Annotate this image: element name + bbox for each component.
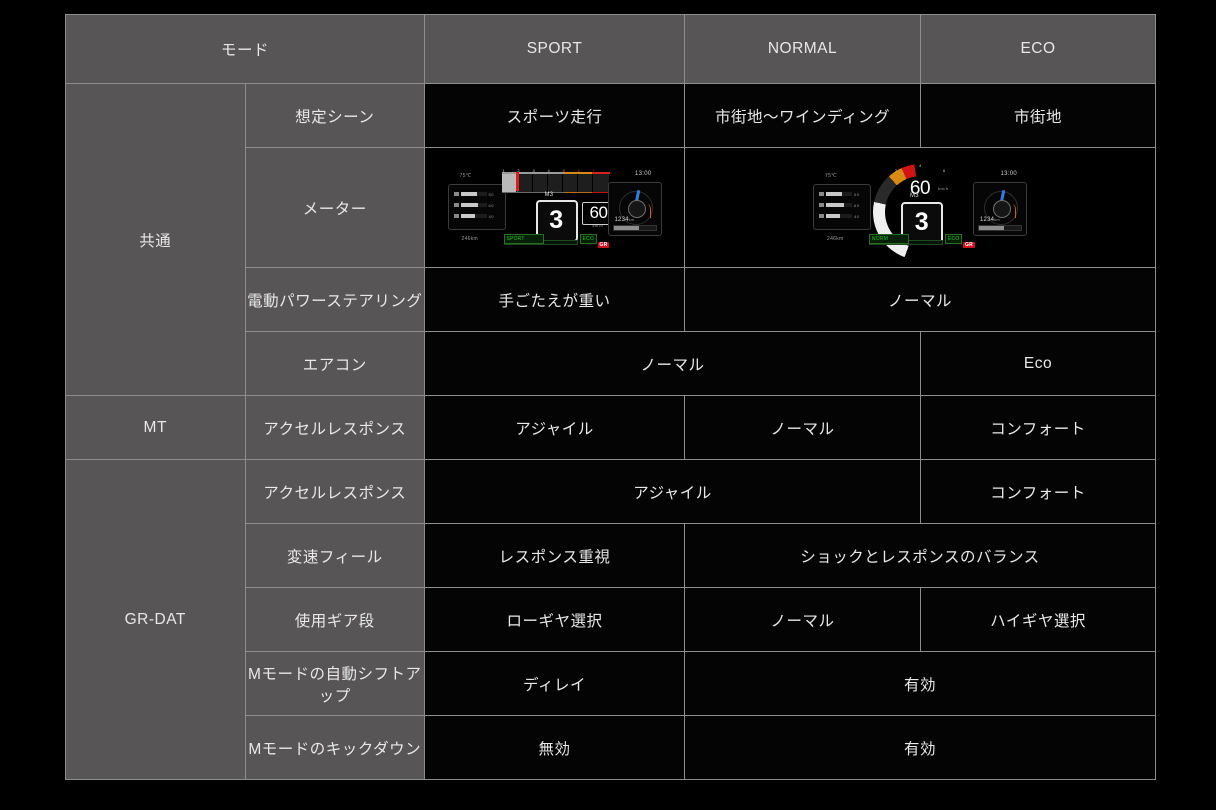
- bar-track: [461, 192, 487, 196]
- gr-badge: GR: [598, 242, 610, 248]
- tach-tick: 4: [548, 168, 551, 173]
- screenshot-root: モード SPORT NORMAL ECO 共通 想定シーン スポーツ走行 市街地…: [0, 0, 1216, 810]
- meter-bar-row: 50: [454, 192, 500, 197]
- tachometer-bar: 1 2 3 4 5 6 7: [502, 169, 610, 193]
- meter-nav-panel: 1234km: [973, 182, 1027, 236]
- cell-gear-normal: ノーマル: [685, 588, 921, 652]
- item-kickdown: Mモードのキックダウン: [245, 716, 425, 780]
- cell-eps-normal-eco: ノーマル: [685, 268, 1156, 332]
- gauge-icon: [819, 203, 824, 207]
- tach-tick: 6: [578, 168, 581, 173]
- trip-progress-bar: [978, 225, 1022, 231]
- road-path: [642, 204, 651, 218]
- meter-nav-panel: 1234km: [608, 182, 662, 236]
- meter-bar-row: 40: [454, 214, 500, 219]
- item-eps: 電動パワーステアリング: [245, 268, 425, 332]
- meter-odometer: 246km: [462, 236, 479, 242]
- meter-coolant-temp: 75℃: [825, 173, 837, 179]
- item-shiftfeel: 変速フィール: [245, 524, 425, 588]
- meter-left-panel: 50 60 40: [813, 184, 871, 230]
- meter-display-sport: 75℃ 246km 13:00 50: [446, 160, 664, 256]
- gauge-icon: [454, 192, 459, 196]
- cell-accel-mt-eco: コンフォート: [921, 396, 1156, 460]
- meter-bar-row: 60: [819, 203, 865, 208]
- meter-clock: 13:00: [1000, 171, 1017, 177]
- bar-value: 60: [489, 203, 500, 208]
- speed-unit: km/h: [593, 223, 604, 228]
- bar-track: [461, 214, 487, 218]
- tach-tick: 5: [563, 168, 566, 173]
- table-header-row: モード SPORT NORMAL ECO: [66, 15, 1156, 84]
- trip-value: 1234: [615, 217, 629, 223]
- category-grdat: GR-DAT: [66, 460, 246, 780]
- header-col-normal: NORMAL: [685, 15, 921, 84]
- header-col-sport: SPORT: [425, 15, 685, 84]
- cell-accel-mt-normal: ノーマル: [685, 396, 921, 460]
- cell-shiftfeel-sport: レスポンス重視: [425, 524, 685, 588]
- header-col-eco: ECO: [921, 15, 1156, 84]
- gauge-icon: [454, 203, 459, 207]
- cell-kickdown-sport: 無効: [425, 716, 685, 780]
- meter-bar-row: 60: [454, 203, 500, 208]
- cell-scene-sport: スポーツ走行: [425, 84, 685, 148]
- meter-left-panel: 50 60 40: [448, 184, 506, 230]
- bar-value: 40: [489, 214, 500, 219]
- tach-tick: 1: [503, 168, 506, 173]
- cell-shiftfeel-normal-eco: ショックとレスポンスのバランス: [685, 524, 1156, 588]
- meter-clock: 13:00: [635, 171, 652, 177]
- trip-progress-bar: [613, 225, 657, 231]
- tach-tick: 3: [533, 168, 536, 173]
- cell-aircon-sport-normal: ノーマル: [425, 332, 921, 396]
- tach-tick: 7: [593, 168, 596, 173]
- gauge-icon: [454, 214, 459, 218]
- category-common: 共通: [66, 84, 246, 396]
- cell-gear-eco: ハイギヤ選択: [921, 588, 1156, 652]
- category-mt: MT: [66, 396, 246, 460]
- gr-badge: GR: [963, 242, 975, 248]
- cell-eps-sport: 手ごたえが重い: [425, 268, 685, 332]
- cell-accel-mt-sport: アジャイル: [425, 396, 685, 460]
- item-meter: メーター: [245, 148, 425, 268]
- bar-value: 40: [854, 214, 865, 219]
- speed-unit: km/h: [938, 186, 949, 191]
- header-mode-label: モード: [66, 15, 425, 84]
- drive-mode-spec-table: モード SPORT NORMAL ECO 共通 想定シーン スポーツ走行 市街地…: [65, 14, 1156, 780]
- trip-unit: km: [994, 217, 1000, 222]
- cell-autoshiftup-normal-eco: 有効: [685, 652, 1156, 716]
- trip-value: 1234: [980, 217, 994, 223]
- item-accel-dat: アクセルレスポンス: [245, 460, 425, 524]
- cell-aircon-eco: Eco: [921, 332, 1156, 396]
- meter-odometer: 246km: [827, 236, 844, 242]
- table-row: 共通 想定シーン スポーツ走行 市街地〜ワインディング 市街地: [66, 84, 1156, 148]
- cell-autoshiftup-sport: ディレイ: [425, 652, 685, 716]
- item-gear: 使用ギア段: [245, 588, 425, 652]
- gear-mode-label: M3: [910, 193, 919, 199]
- eco-tag: ECO: [945, 234, 962, 244]
- trip-readout: 1234km: [980, 217, 1000, 223]
- cell-accel-dat-eco: コンフォート: [921, 460, 1156, 524]
- cell-scene-normal: 市街地〜ワインディング: [685, 84, 921, 148]
- cell-kickdown-normal-eco: 有効: [685, 716, 1156, 780]
- bar-track: [826, 214, 852, 218]
- trip-unit: km: [629, 217, 635, 222]
- drive-mode-tag: NORM: [869, 234, 909, 244]
- item-autoshiftup: Mモードの自動シフトアップ: [245, 652, 425, 716]
- gauge-icon: [819, 192, 824, 196]
- item-aircon: エアコン: [245, 332, 425, 396]
- meter-bar-row: 40: [819, 214, 865, 219]
- meter-bar-row: 50: [819, 192, 865, 197]
- table-row: GR-DAT アクセルレスポンス アジャイル コンフォート: [66, 460, 1156, 524]
- meter-coolant-temp: 75℃: [460, 173, 472, 179]
- bar-track: [826, 203, 852, 207]
- cell-gear-sport: ローギヤ選択: [425, 588, 685, 652]
- bar-value: 50: [854, 192, 865, 197]
- drive-mode-tag: SPORT: [504, 234, 544, 244]
- item-accel-mt: アクセルレスポンス: [245, 396, 425, 460]
- cell-accel-dat-sport-normal: アジャイル: [425, 460, 921, 524]
- cell-meter-sport: 75℃ 246km 13:00 50: [425, 148, 685, 268]
- trip-readout: 1234km: [615, 217, 635, 223]
- bar-value: 60: [854, 203, 865, 208]
- table-row: MT アクセルレスポンス アジャイル ノーマル コンフォート: [66, 396, 1156, 460]
- meter-display-normal: 75℃ 246km 13:00 50: [811, 160, 1029, 256]
- gear-mode-label: M3: [545, 192, 554, 198]
- speed-readout: 60: [903, 178, 937, 200]
- gauge-icon: [819, 214, 824, 218]
- cell-scene-eco: 市街地: [921, 84, 1156, 148]
- cell-meter-normal: 75℃ 246km 13:00 50: [685, 148, 1156, 268]
- eco-tag: ECO: [580, 234, 597, 244]
- bar-value: 50: [489, 192, 500, 197]
- bar-track: [461, 203, 487, 207]
- bar-track: [826, 192, 852, 196]
- item-scene: 想定シーン: [245, 84, 425, 148]
- road-path: [1007, 204, 1016, 218]
